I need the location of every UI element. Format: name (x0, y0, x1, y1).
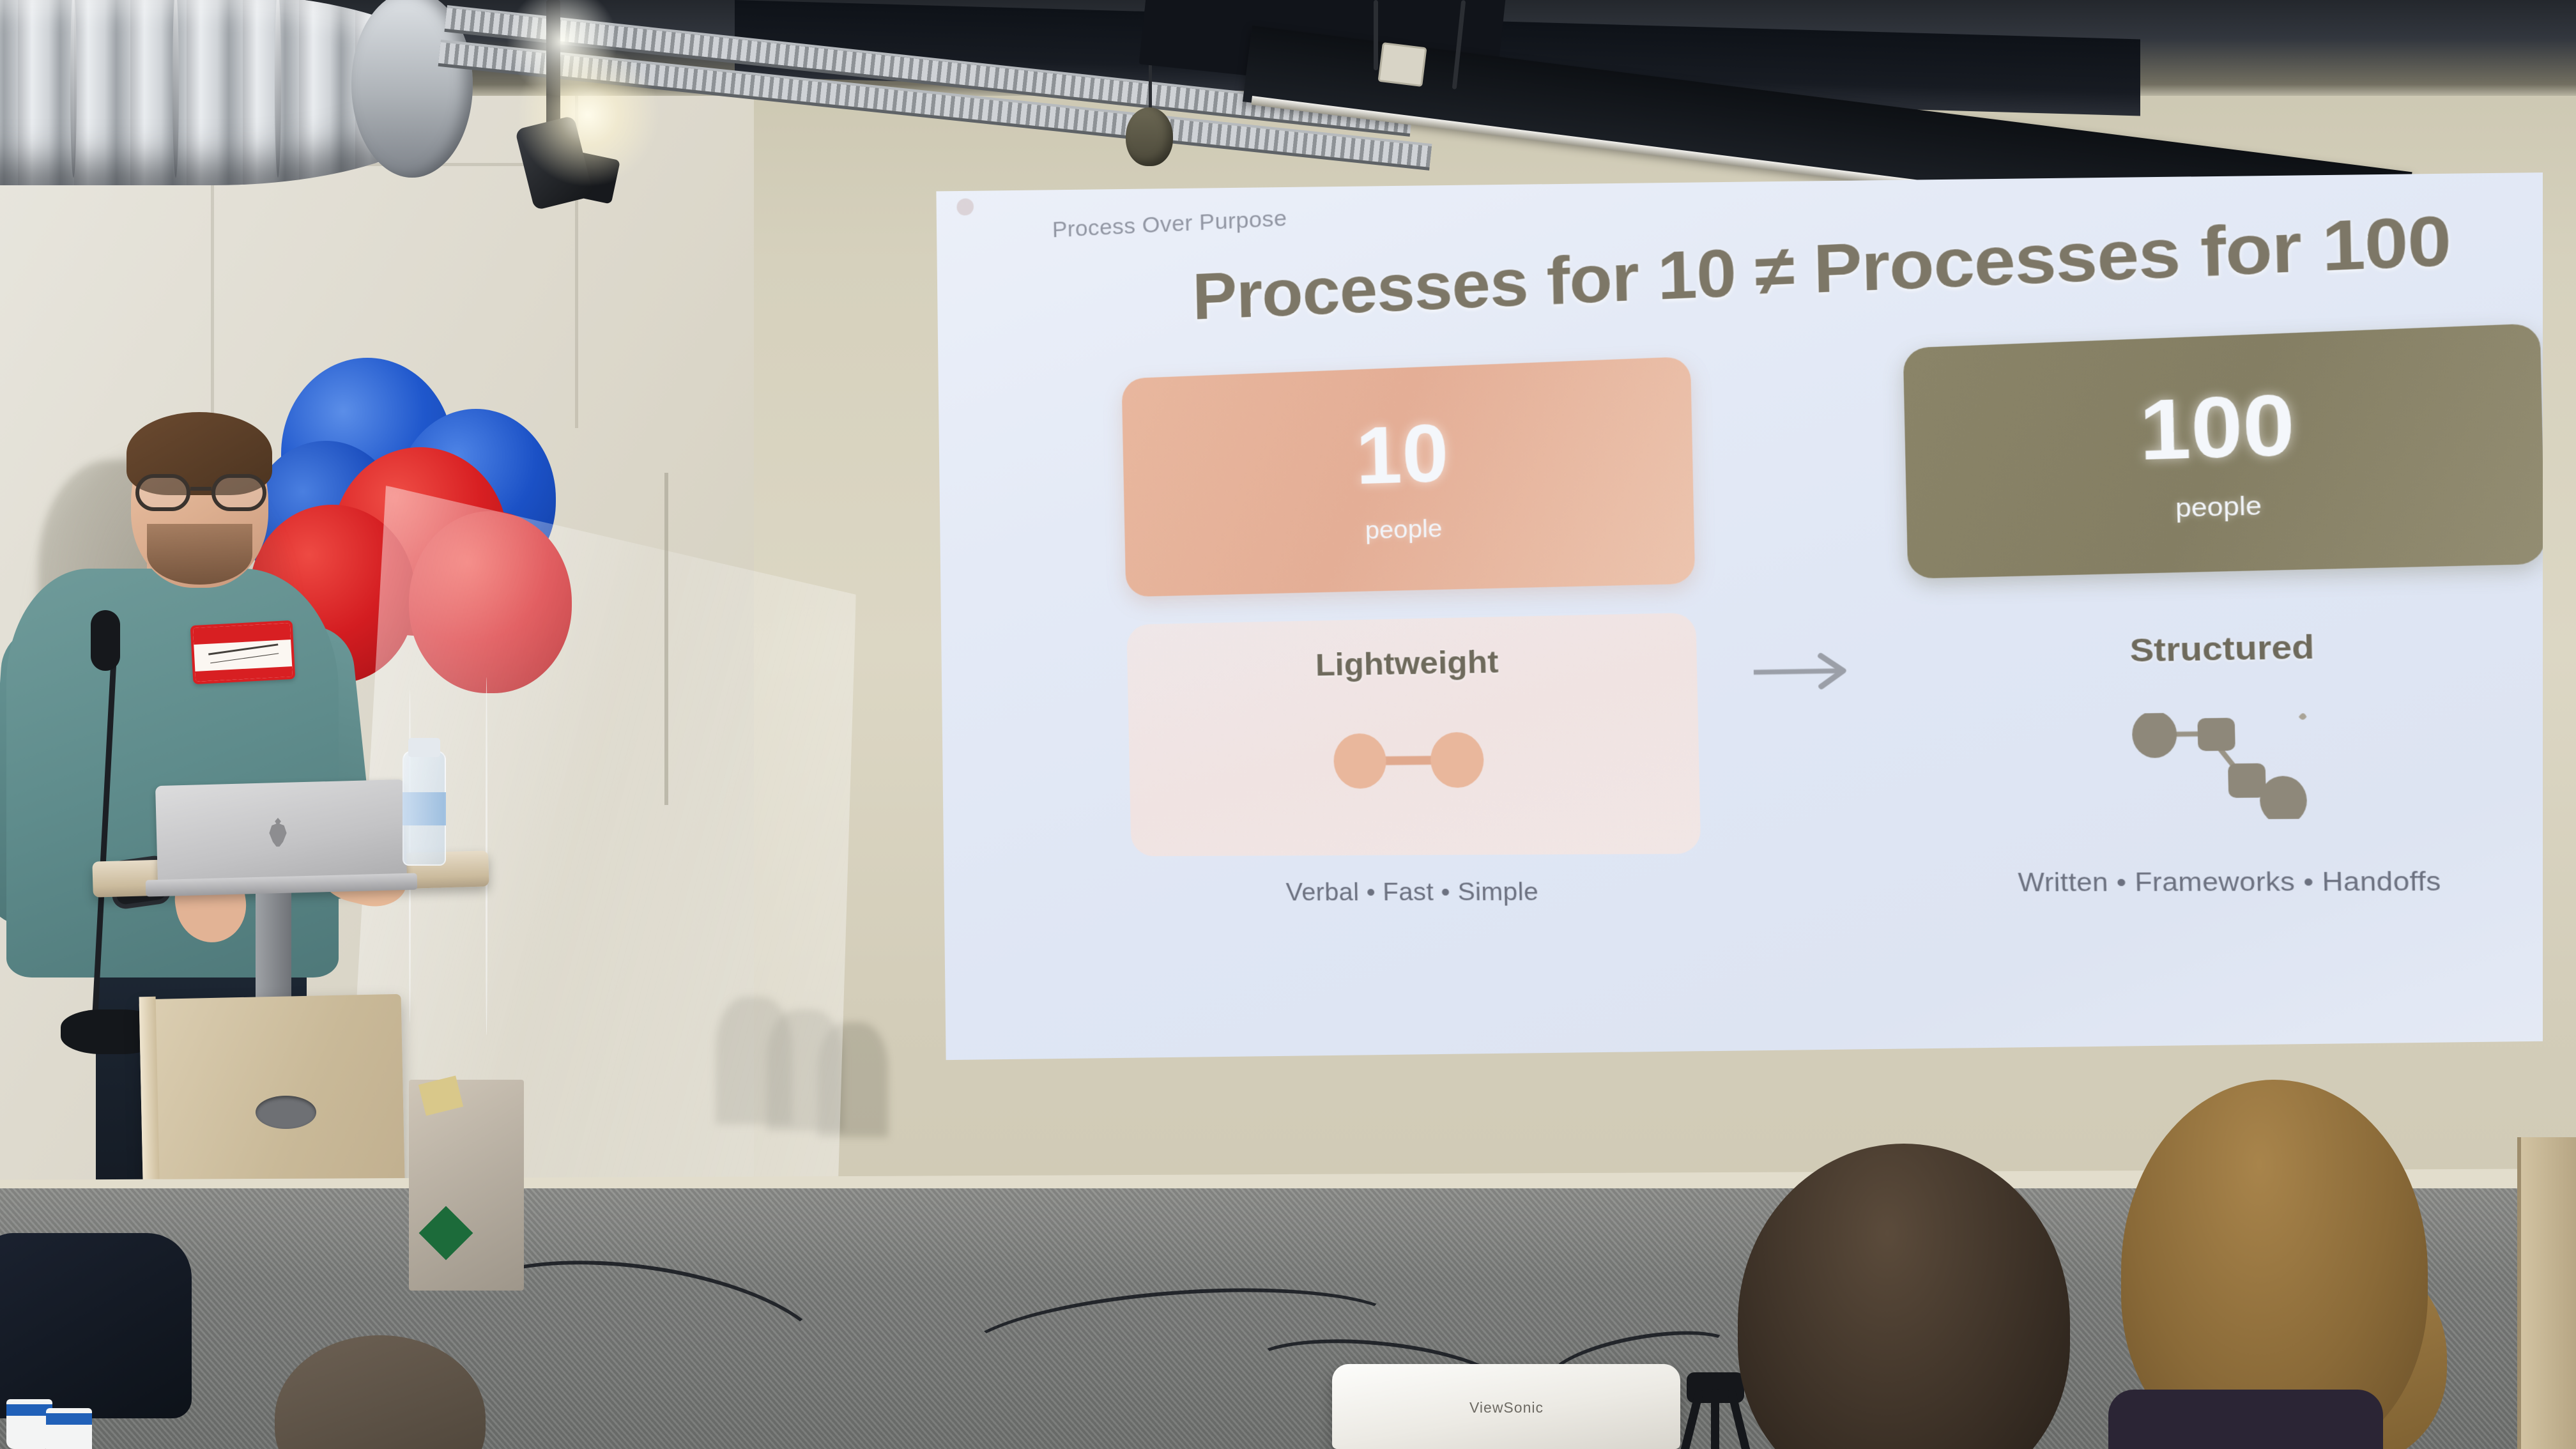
slide-content: Process Over Purpose Processes for 10 ≠ … (910, 59, 2576, 1149)
water-bottle-cap (408, 738, 440, 757)
projector-brand-label: ViewSonic (1469, 1399, 1544, 1416)
name-tag (190, 620, 296, 684)
mode-card-structured: Structured (1908, 595, 2552, 853)
cup-2 (46, 1408, 92, 1449)
stat-number-100: 100 (2138, 383, 2296, 473)
stat-card-10: 10 people (1122, 356, 1696, 597)
cable-grommet (256, 1096, 316, 1129)
water-bottle-label (402, 792, 446, 825)
stat-number-10: 10 (1355, 413, 1450, 496)
wood-wall-panel (2517, 1137, 2576, 1449)
spotlight-glow (511, 38, 664, 192)
transition-arrow-cell (1712, 349, 1888, 693)
dumbbell-icon (1328, 729, 1489, 795)
audience-shirt (2108, 1390, 2383, 1449)
pendant-lamp-icon (1126, 107, 1173, 166)
slide-columns: 10 people Lightweight (986, 317, 2576, 907)
cups-group (6, 1399, 109, 1449)
stat-card-100: 100 people (1903, 323, 2545, 579)
bullets-left: Verbal • Fast • Simple (1285, 878, 1538, 907)
wall-socket-icon (1377, 42, 1427, 87)
projection-screen: Process Over Purpose Processes for 10 ≠ … (920, 172, 2543, 1112)
column-large-team: 100 people Structured (1881, 322, 2576, 898)
stat-label-people-left: people (1365, 514, 1443, 545)
backpack (0, 1233, 192, 1418)
mode-title-lightweight: Lightweight (1315, 643, 1499, 683)
mode-title-structured: Structured (2129, 627, 2315, 670)
glasses-icon (135, 474, 266, 511)
flag-pole (664, 473, 668, 805)
stat-label-people-right: people (2175, 491, 2262, 524)
conference-room-photo: Process Over Purpose Processes for 10 ≠ … (0, 0, 2576, 1449)
microphone-icon (91, 610, 120, 671)
mode-card-lightweight: Lightweight (1126, 613, 1701, 856)
arrow-right-icon (1747, 650, 1859, 693)
column-small-team: 10 people Lightweight (1101, 356, 1724, 907)
slide-decor-dot (956, 198, 974, 216)
node-graph-icon (2126, 711, 2323, 824)
speaker-beard (147, 524, 252, 585)
hvac-duct-icon (0, 0, 466, 185)
bullets-right: Written • Frameworks • Handoffs (2018, 866, 2441, 897)
ceiling-cable-2 (1374, 0, 1378, 70)
